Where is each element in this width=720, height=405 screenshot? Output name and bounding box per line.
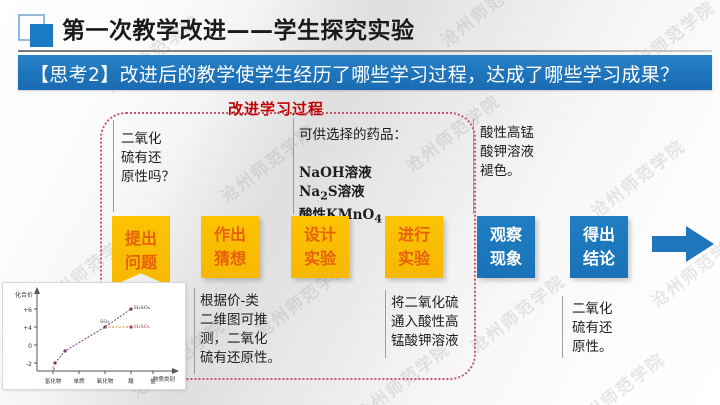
top-note-observation: 酸性高锰 酸钾溶液 褪色。 xyxy=(480,124,570,181)
step-label-line2: 实验 xyxy=(398,247,430,271)
svg-text:单质: 单质 xyxy=(73,377,85,385)
bottom-note-conclusion: 二氧化 硫有还 原性。 xyxy=(572,300,660,357)
step-label-line1: 进行 xyxy=(398,223,430,247)
note-divider xyxy=(562,296,563,358)
svg-text:0: 0 xyxy=(28,343,32,350)
svg-text:酸: 酸 xyxy=(128,377,134,385)
svg-text:物质类别: 物质类别 xyxy=(153,375,175,383)
svg-text:+6: +6 xyxy=(23,307,32,314)
step-label-line2: 猜想 xyxy=(214,247,246,271)
svg-text:H₂SO₄: H₂SO₄ xyxy=(134,305,150,311)
step-box-draw-conclusion[interactable]: 得出 结论 xyxy=(570,216,628,278)
bottom-note-procedure: 将二氧化硫 通入酸性高 锰酸钾溶液 xyxy=(391,294,483,351)
note-divider xyxy=(293,118,294,214)
note-divider xyxy=(385,290,386,358)
svg-text:氧化物: 氧化物 xyxy=(97,377,114,385)
valence-category-chart: +6 +4 0 -2 化合价 氢化物 单质 氧化物 酸 盐 物质类别 xyxy=(2,282,186,390)
step-label-line1: 观察 xyxy=(490,223,522,247)
square-filled-icon xyxy=(30,24,53,47)
svg-text:氢化物: 氢化物 xyxy=(45,377,62,385)
step-label-line1: 作出 xyxy=(214,223,246,247)
note-divider xyxy=(113,120,114,212)
step-box-perform-experiment[interactable]: 进行 实验 xyxy=(385,216,443,278)
top-note-question: 二氧化 硫有还 原性吗？ xyxy=(121,130,201,187)
step-box-design-experiment[interactable]: 设计 实验 xyxy=(291,216,349,278)
step-box-make-hypothesis[interactable]: 作出 猜想 xyxy=(201,216,259,278)
question-banner: 【思考2】改进后的教学使学生经历了哪些学习过程，达成了哪些学习成果？ xyxy=(18,55,712,90)
slide-canvas: 沧州师范学院 沧州师范学院 沧州师范学院 沧州师范学院 沧州师范学院 沧州师范学… xyxy=(0,0,720,405)
note-divider xyxy=(194,288,195,374)
step-label-line1: 设计 xyxy=(304,223,336,247)
svg-text:S: S xyxy=(52,366,56,372)
page-title: 第一次教学改进——学生探究实验 xyxy=(62,11,415,45)
question-banner-text: 【思考2】改进后的教学使学生经历了哪些学习过程，达成了哪些学习成果？ xyxy=(30,60,679,87)
step-box-observe-phenomenon[interactable]: 观察 现象 xyxy=(477,216,535,278)
top-note-reagents: 可供选择的药品： NaOH溶液 Na2S溶液 酸性KMnO4 xyxy=(299,126,419,228)
reagents-heading: 可供选择的药品： xyxy=(299,126,419,145)
step-label-line1: 得出 xyxy=(583,223,615,247)
step-label-line2: 问题 xyxy=(125,251,157,275)
bottom-note-hypothesis: 根据价-类 二维图可推 测，二氧化 硫有还原性。 xyxy=(200,292,298,368)
note-divider xyxy=(473,118,474,214)
step-label-line2: 现象 xyxy=(490,247,522,271)
svg-text:+4: +4 xyxy=(23,325,32,332)
svg-text:H₂SO₃: H₂SO₃ xyxy=(134,324,150,330)
title-divider xyxy=(18,50,712,52)
watermark-text: 沧州师范学院 xyxy=(584,133,689,223)
step-label-line2: 结论 xyxy=(583,247,615,271)
right-arrow-icon xyxy=(652,224,714,264)
svg-text:SO₂: SO₂ xyxy=(100,319,110,325)
step-label-line1: 提出 xyxy=(125,227,157,251)
step-label-line2: 实验 xyxy=(304,247,336,271)
slide-header: 第一次教学改进——学生探究实验 xyxy=(0,0,720,50)
svg-text:-2: -2 xyxy=(26,361,32,368)
svg-text:化合价: 化合价 xyxy=(15,291,33,299)
